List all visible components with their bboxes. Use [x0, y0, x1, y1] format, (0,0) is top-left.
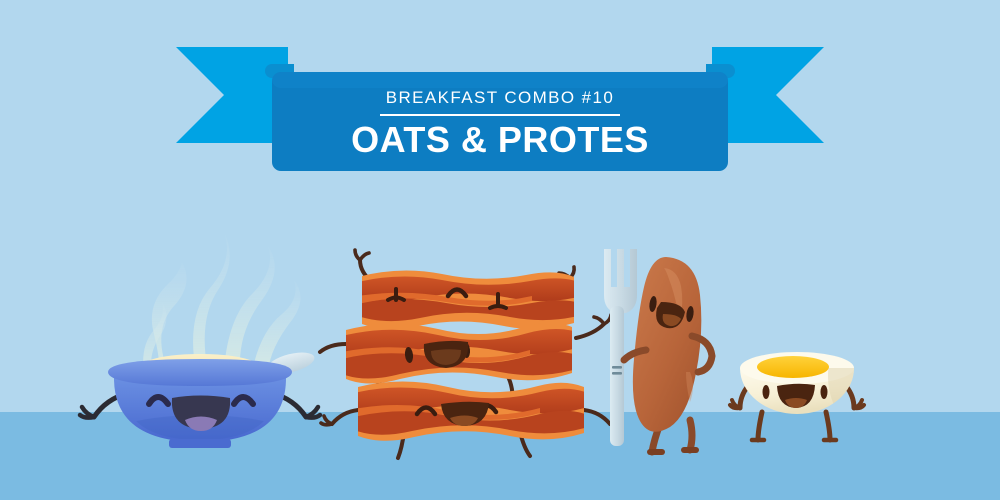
poster-canvas: BREAKFAST COMBO #10 OATS & PROTES: [0, 0, 1000, 500]
bowl-rim: [108, 359, 292, 386]
illustration-artboard: [0, 0, 1000, 500]
sausage-leg-right: [690, 420, 692, 450]
egg-yolk: [757, 356, 829, 378]
egg-eye-left: [763, 385, 770, 399]
fork-handle: [610, 306, 624, 446]
fork-tines: [604, 249, 637, 313]
egg-eye-right: [821, 385, 828, 399]
bowl-foot: [169, 439, 231, 448]
ribbon-panel-sheen: [272, 72, 728, 88]
